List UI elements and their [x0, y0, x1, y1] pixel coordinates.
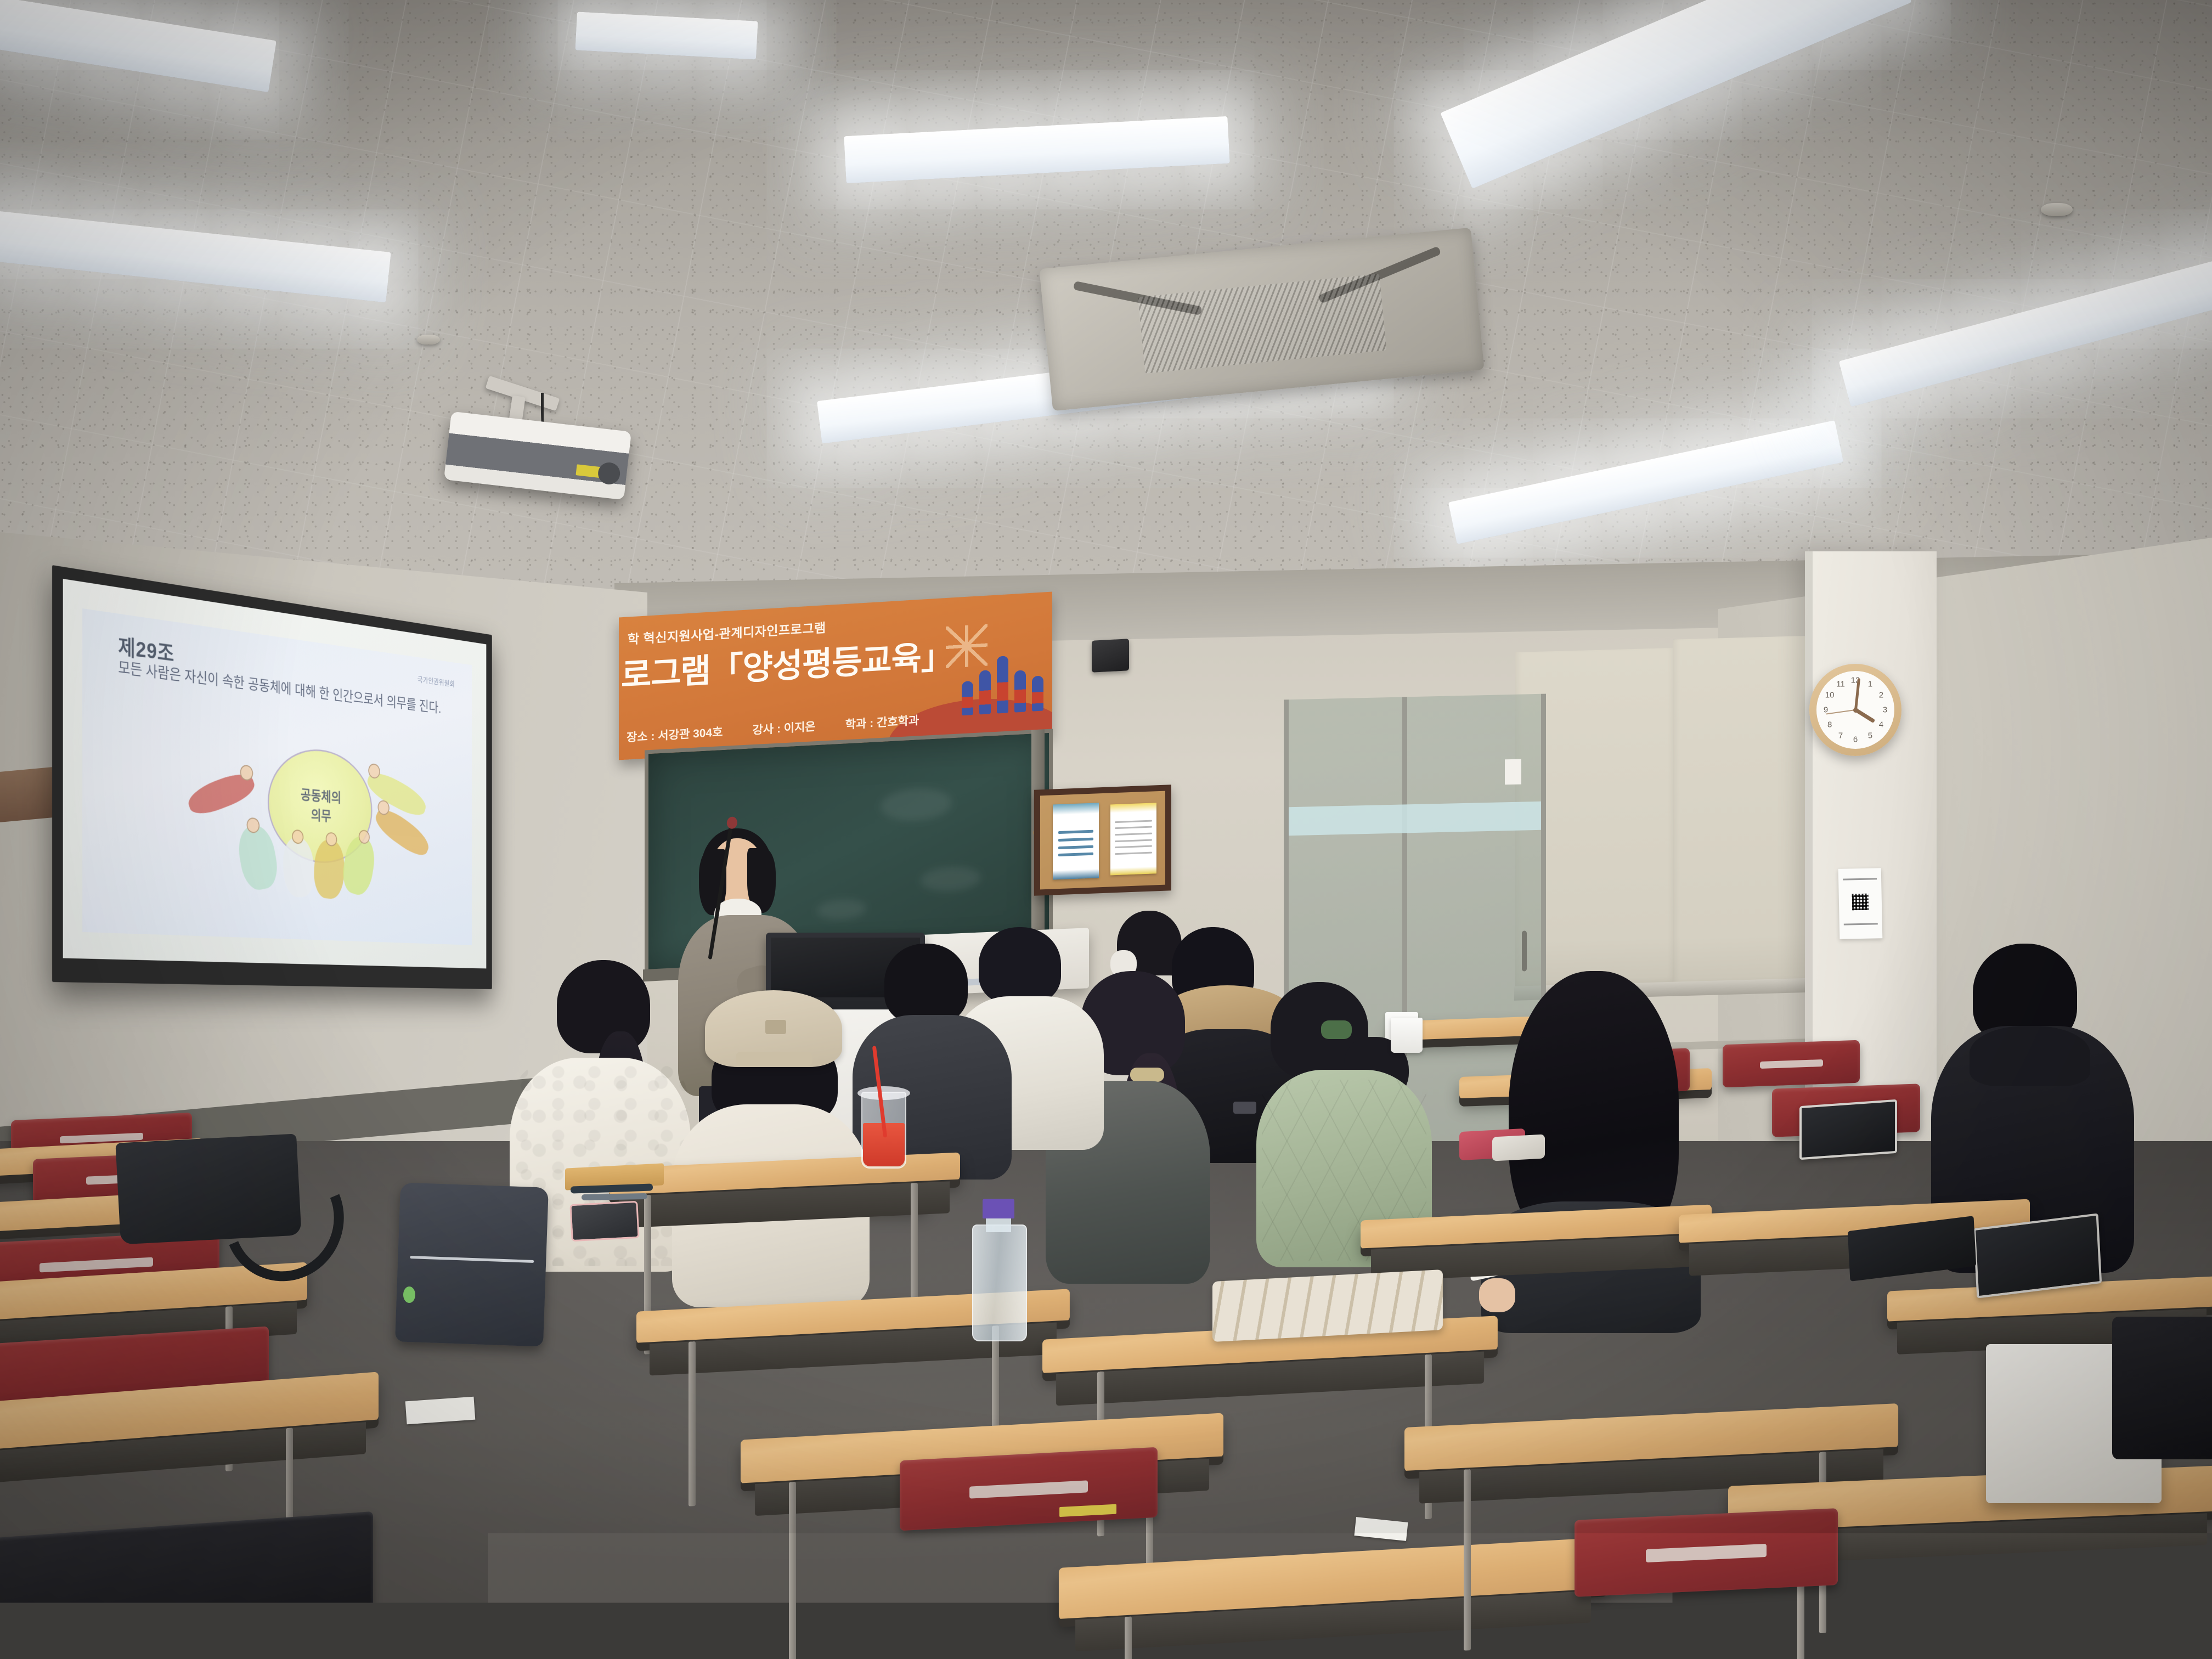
slide-child-figure	[185, 768, 258, 820]
projection-screen-frame: 제29조 모든 사람은 자신이 속한 공동체에 대해 한 인간으로서 의무를 진…	[52, 565, 492, 989]
cap-strap	[736, 1052, 812, 1066]
door-notice-card	[1505, 759, 1521, 785]
student-hair	[557, 960, 650, 1053]
backpack	[395, 1182, 549, 1346]
door-frosted-band	[1289, 802, 1541, 836]
clock-face: 12 1 2 3 4 5 6 7 8 9 10 11	[1816, 671, 1894, 749]
notice-poster	[1110, 803, 1156, 876]
clock-number: 3	[1883, 706, 1887, 715]
classroom-photo: 제29조 모든 사람은 자신이 속한 공동체에 대해 한 인간으로서 의무를 진…	[0, 0, 2212, 1659]
pouch	[1492, 1134, 1545, 1161]
qr-code-icon	[1852, 894, 1869, 911]
folded-scarf	[1212, 1269, 1443, 1342]
chair[interactable]	[1575, 1508, 1838, 1597]
sun-label-line2: 의무	[311, 805, 331, 827]
tablet-device[interactable]	[1799, 1099, 1897, 1160]
banner-figure-icon	[1014, 670, 1026, 712]
wall-clock: 12 1 2 3 4 5 6 7 8 9 10 11	[1809, 664, 1901, 756]
clock-number: 4	[1879, 720, 1883, 729]
pen	[582, 1193, 647, 1200]
puffer-collar	[1970, 1026, 2090, 1086]
qr-notice	[1838, 868, 1883, 939]
projector-lens-icon	[597, 461, 621, 486]
door-handle[interactable]	[1522, 931, 1527, 972]
slide-logo: 국가인권위원회	[417, 674, 455, 690]
slide-body-text: 모든 사람은 자신이 속한 공동체에 대해 한 인간으로서 의무를 진다.	[118, 658, 451, 719]
slide-child-figure	[365, 766, 429, 822]
banner-figure-icon	[1032, 675, 1043, 711]
student	[683, 990, 870, 1303]
smartphone[interactable]	[569, 1201, 639, 1242]
bottle-cap	[983, 1199, 1014, 1218]
black-bag	[2112, 1317, 2212, 1459]
clock-second-hand	[1826, 709, 1855, 714]
clock-number: 8	[1827, 720, 1832, 729]
hair-scrunchie	[1321, 1020, 1352, 1039]
sun-label-line1: 공동체의	[301, 785, 341, 808]
clock-number: 1	[1868, 680, 1872, 689]
notice-poster	[1053, 803, 1099, 879]
clock-number: 5	[1868, 731, 1872, 740]
roller-blind[interactable]	[1673, 635, 1819, 990]
student-hand	[1479, 1278, 1515, 1312]
clock-number: 2	[1879, 691, 1883, 700]
clock-center-pin	[1853, 708, 1858, 713]
banner-figure-icon	[962, 681, 973, 715]
banner-meta-instructor: 강사 : 이지은	[752, 718, 815, 738]
banner-figure-icon	[997, 656, 1008, 713]
banner-meta-location: 장소 : 서강관 304호	[627, 723, 723, 745]
clock-number: 6	[1853, 735, 1858, 744]
clock-number: 7	[1838, 731, 1843, 740]
water-bottle	[972, 1201, 1025, 1341]
hair-tie	[1130, 1068, 1164, 1082]
smoke-detector-icon	[2041, 203, 2073, 216]
projection-screen: 제29조 모든 사람은 자신이 속한 공동체에 대해 한 인간으로서 의무를 진…	[63, 579, 487, 968]
banner-figure-icon	[979, 670, 991, 714]
cork-surface	[1040, 791, 1165, 890]
cap-logo-icon	[765, 1020, 786, 1034]
notice-board	[1034, 785, 1171, 896]
clock-number: 11	[1836, 680, 1845, 689]
iced-drink-cup	[861, 1092, 906, 1169]
student-hair	[884, 944, 968, 1024]
wall-speaker	[1092, 639, 1129, 673]
clock-number: 10	[1825, 691, 1835, 700]
bag-charm	[403, 1286, 415, 1303]
chair[interactable]	[900, 1447, 1158, 1531]
smoke-detector-icon	[417, 335, 440, 345]
paper-cup	[1391, 1018, 1423, 1053]
chair[interactable]	[0, 1511, 373, 1659]
banner-figures	[962, 653, 1043, 715]
chair[interactable]	[1723, 1040, 1860, 1088]
paper-on-floor	[405, 1397, 476, 1425]
presentation-slide: 제29조 모든 사람은 자신이 속한 공동체에 대해 한 인간으로서 의무를 진…	[83, 608, 472, 945]
